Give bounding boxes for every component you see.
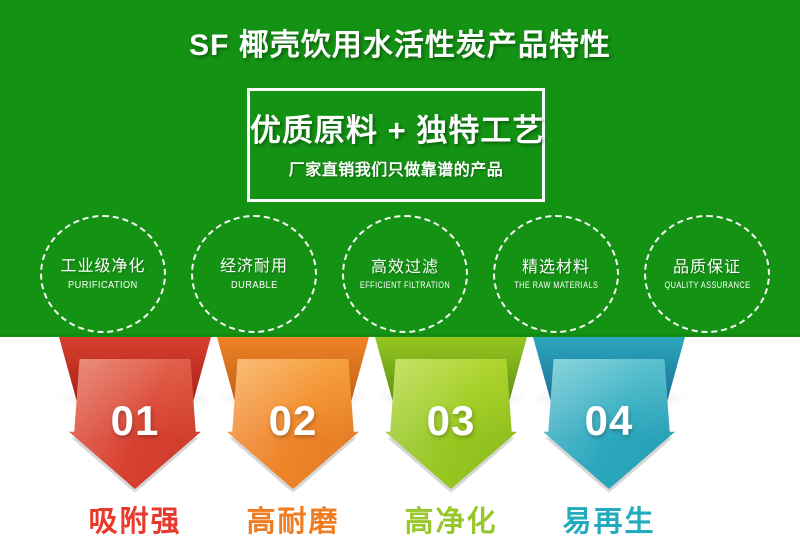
feature-label-en: EFFICIENT FILTRATION xyxy=(360,280,450,290)
step-arrow-1: 01 xyxy=(55,337,215,497)
arrow-front-panel xyxy=(69,359,201,489)
feature-label-cn: 品质保证 xyxy=(673,258,741,277)
step-arrow-3: 03 xyxy=(371,337,531,497)
step-arrow-2: 02 xyxy=(213,337,373,497)
step-arrow-row: 01 02 03 04 xyxy=(0,337,800,497)
step-arrow-4: 04 xyxy=(529,337,689,497)
arrow-front-panel xyxy=(385,359,517,489)
feature-label-en: PURIFICATION xyxy=(68,280,138,291)
feature-circle-5: 品质保证 QUALITY ASSURANCE xyxy=(644,215,770,333)
feature-label-cn: 工业级净化 xyxy=(60,257,145,276)
step-label-row: 吸附强 高耐磨 高净化 易再生 xyxy=(0,498,800,550)
feature-label-en: THE RAW MATERIALS xyxy=(514,280,598,290)
feature-circle-1: 工业级净化 PURIFICATION xyxy=(40,215,166,333)
feature-circle-3: 高效过滤 EFFICIENT FILTRATION xyxy=(342,215,468,333)
product-feature-banner: SF 椰壳饮用水活性炭产品特性 优质原料 + 独特工艺 厂家直销我们只做靠谱的产… xyxy=(0,0,800,550)
feature-circle-4: 精选材料 THE RAW MATERIALS xyxy=(493,215,619,333)
step-label-2: 高耐磨 xyxy=(213,498,373,540)
arrow-front-panel xyxy=(227,359,359,489)
page-title: SF 椰壳饮用水活性炭产品特性 xyxy=(0,20,800,64)
feature-label-en: DURABLE xyxy=(231,280,278,291)
feature-circle-2: 经济耐用 DURABLE xyxy=(191,215,317,333)
feature-label-cn: 高效过滤 xyxy=(371,258,439,277)
feature-label-en: QUALITY ASSURANCE xyxy=(664,280,750,290)
arrow-front-panel xyxy=(543,359,675,489)
green-panel: SF 椰壳饮用水活性炭产品特性 优质原料 + 独特工艺 厂家直销我们只做靠谱的产… xyxy=(0,0,800,337)
step-label-3: 高净化 xyxy=(371,498,531,540)
highlight-box: 优质原料 + 独特工艺 厂家直销我们只做靠谱的产品 xyxy=(247,88,545,202)
feature-label-cn: 精选材料 xyxy=(522,258,590,277)
feature-label-cn: 经济耐用 xyxy=(220,257,288,276)
highlight-subtitle: 厂家直销我们只做靠谱的产品 xyxy=(250,156,542,180)
feature-circle-list: 工业级净化 PURIFICATION 经济耐用 DURABLE 高效过滤 EFF… xyxy=(40,215,770,333)
highlight-headline: 优质原料 + 独特工艺 xyxy=(250,105,542,150)
step-label-1: 吸附强 xyxy=(55,498,215,540)
step-label-4: 易再生 xyxy=(529,498,689,540)
